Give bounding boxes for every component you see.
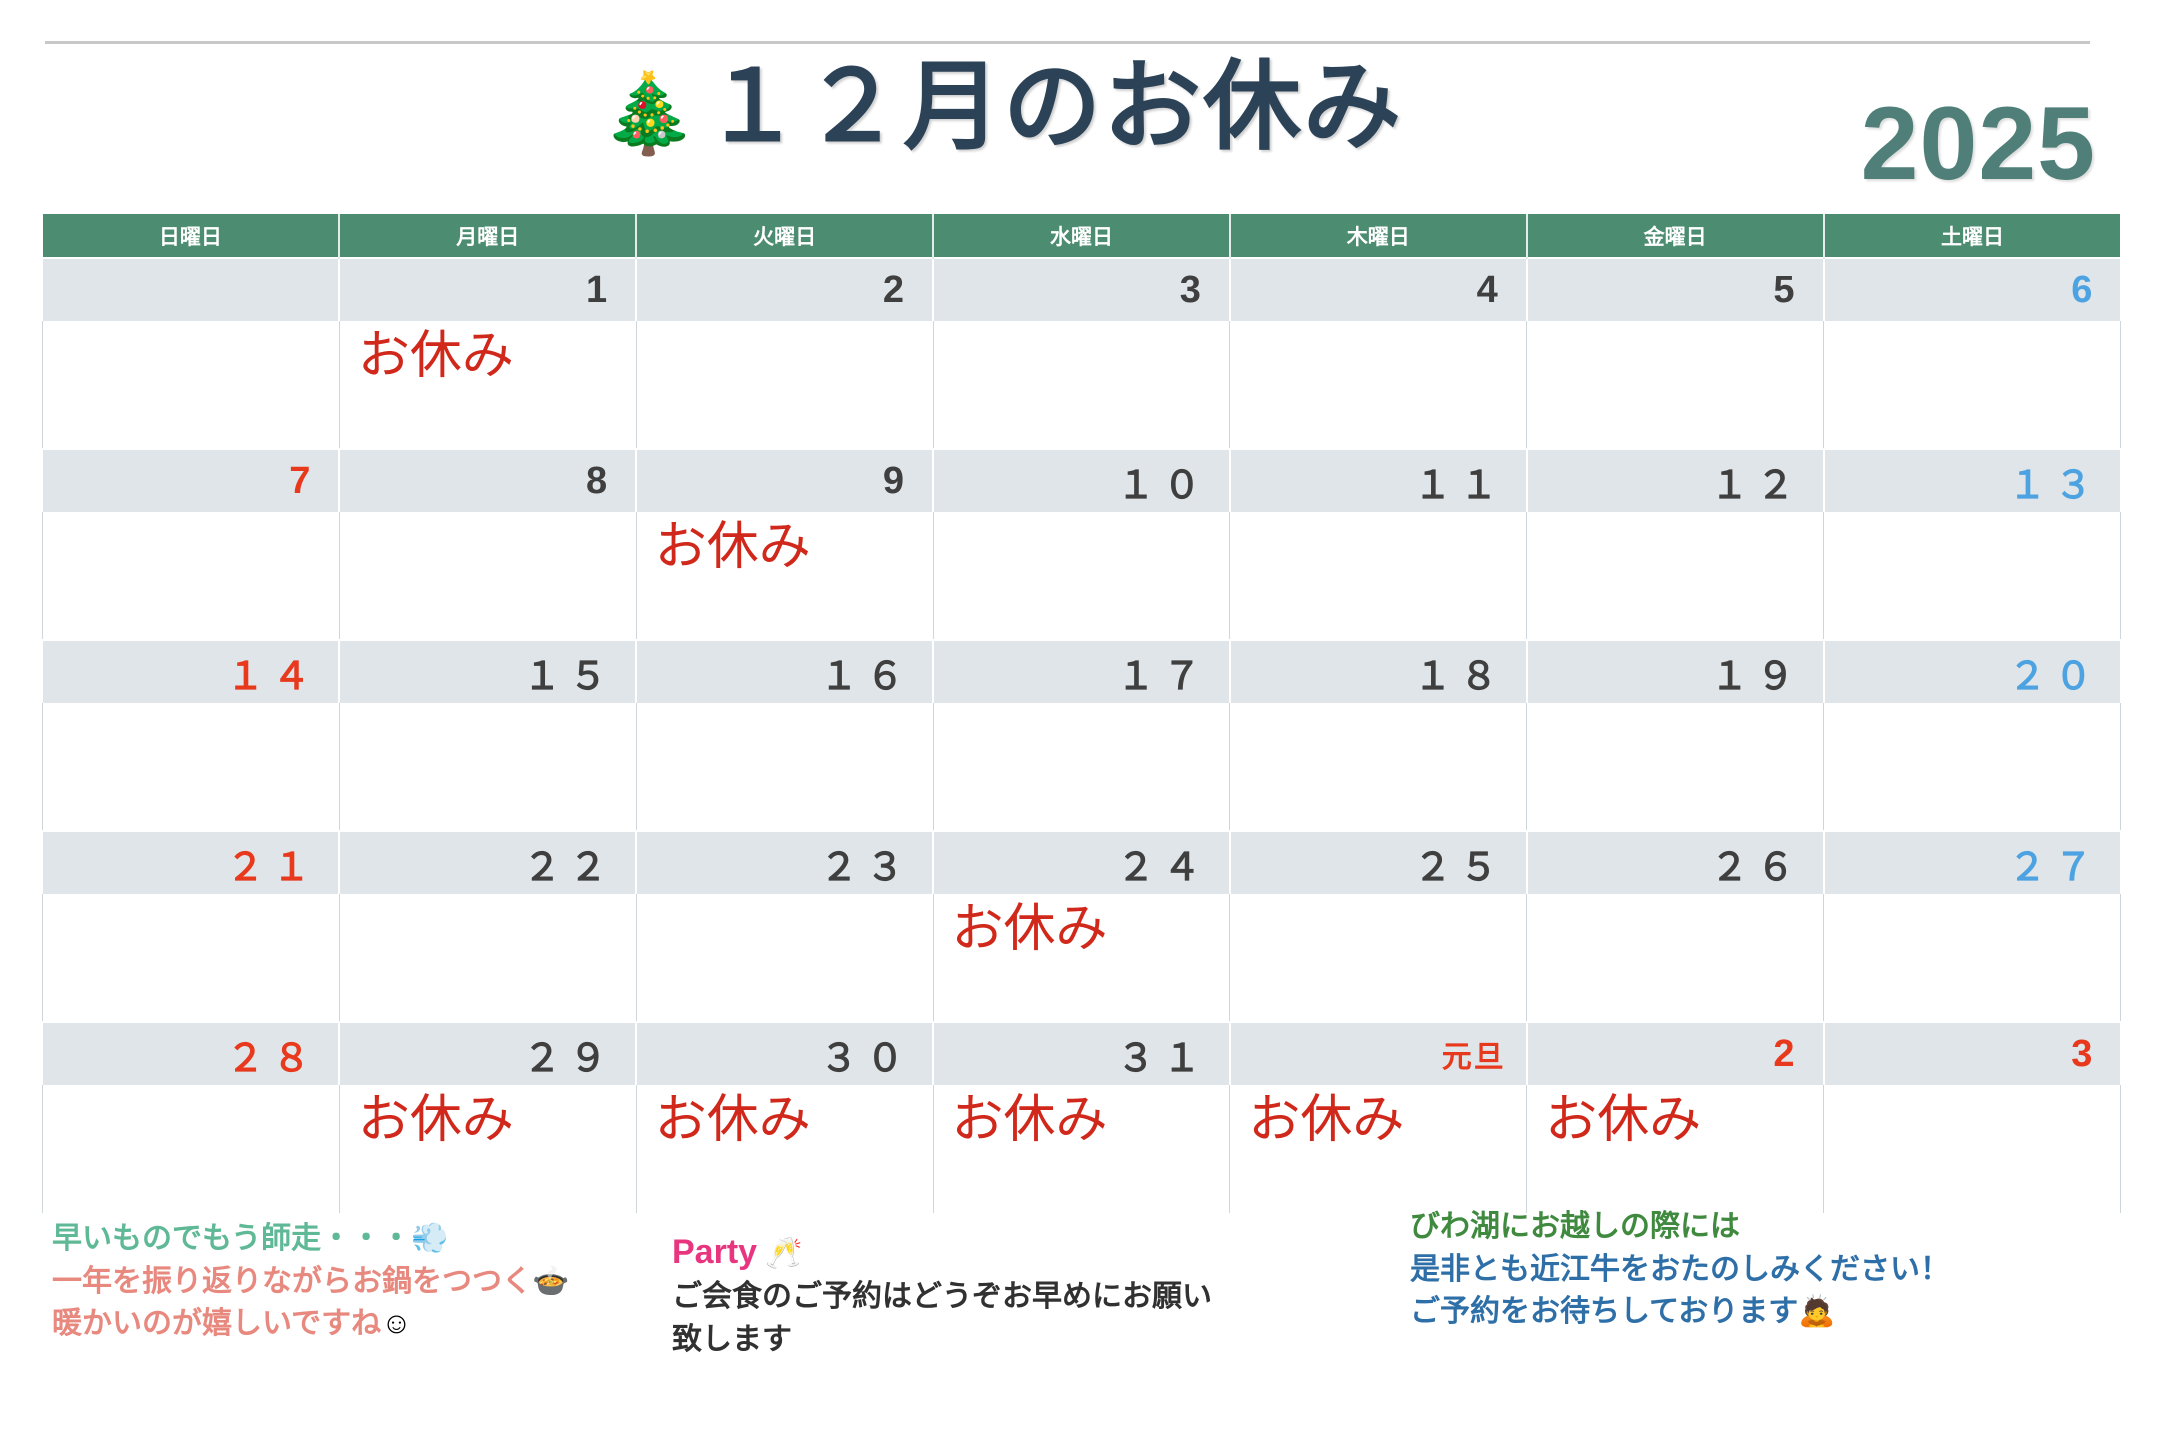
- calendar-event-cell[interactable]: [933, 512, 1230, 640]
- calendar-date-row: 789１０１１１２１３: [43, 449, 2121, 512]
- note-left-line1-text: 早いものでもう師走・・・: [52, 1222, 411, 1255]
- date-number: ２０: [2008, 656, 2100, 698]
- calendar-event-cell[interactable]: [1527, 512, 1824, 640]
- calendar-grid: 日曜日 月曜日 火曜日 水曜日 木曜日 金曜日 土曜日 123456お休み789…: [42, 214, 2121, 1213]
- calendar-date-cell[interactable]: 5: [1527, 258, 1824, 321]
- calendar-event-row: お休み: [43, 321, 2121, 449]
- note-middle-line3: 致します: [672, 1319, 1212, 1362]
- calendar-event-cell[interactable]: [1824, 512, 2121, 640]
- calendar-date-cell[interactable]: 3: [933, 258, 1230, 321]
- calendar-event-row: お休み: [43, 894, 2121, 1022]
- note-right-line3: ご予約をお待ちしております🙇: [1400, 1291, 1950, 1334]
- smiling-face-emoji: ☺: [381, 1307, 412, 1340]
- day-header-friday: 金曜日: [1527, 214, 1824, 258]
- calendar-date-cell[interactable]: ３１: [933, 1022, 1230, 1085]
- closed-day-label: お休み: [1248, 1091, 1404, 1149]
- closed-day-label: お休み: [952, 1091, 1108, 1149]
- date-number: ２９: [523, 1038, 615, 1080]
- date-number: １７: [1117, 656, 1209, 698]
- date-number: １６: [820, 656, 912, 698]
- calendar-date-cell[interactable]: １２: [1527, 449, 1824, 512]
- calendar-date-row: ２８２９３０３１元旦23: [43, 1022, 2121, 1085]
- date-number: 3: [1180, 269, 1209, 311]
- date-number: １４: [226, 656, 318, 698]
- calendar-date-cell[interactable]: 4: [1230, 258, 1527, 321]
- date-number: １２: [1711, 465, 1803, 507]
- closed-day-label: お休み: [655, 518, 811, 576]
- calendar-event-cell[interactable]: [1527, 703, 1824, 831]
- calendar-event-cell[interactable]: [43, 321, 340, 449]
- calendar-event-cell[interactable]: [933, 703, 1230, 831]
- closed-day-label: お休み: [358, 1091, 514, 1149]
- calendar-event-cell[interactable]: お休み: [1527, 1085, 1824, 1213]
- note-middle-line2: ご会食のご予約はどうぞお早めにお願い: [672, 1276, 1212, 1319]
- calendar-date-cell[interactable]: ２１: [43, 831, 340, 894]
- calendar-date-cell[interactable]: ２６: [1527, 831, 1824, 894]
- note-right-line1: びわ湖にお越しの際には: [1400, 1206, 1950, 1249]
- note-left-line2: 一年を振り返りながらお鍋をつつく🍲: [52, 1261, 569, 1304]
- calendar-date-cell[interactable]: １０: [933, 449, 1230, 512]
- calendar-event-cell[interactable]: [1230, 894, 1527, 1022]
- calendar-date-cell[interactable]: ２３: [636, 831, 933, 894]
- calendar-event-cell[interactable]: [339, 894, 636, 1022]
- calendar-event-cell[interactable]: [1824, 321, 2121, 449]
- calendar-date-cell[interactable]: 元旦: [1230, 1022, 1527, 1085]
- note-left-line1: 早いものでもう師走・・・💨: [52, 1218, 569, 1261]
- date-number: ３０: [820, 1038, 912, 1080]
- calendar-date-cell[interactable]: １３: [1824, 449, 2121, 512]
- calendar-event-cell[interactable]: お休み: [636, 512, 933, 640]
- day-header-saturday: 土曜日: [1824, 214, 2121, 258]
- calendar-event-cell[interactable]: [1824, 894, 2121, 1022]
- calendar-date-cell[interactable]: 2: [1527, 1022, 1824, 1085]
- date-number: １８: [1414, 656, 1506, 698]
- note-left: 早いものでもう師走・・・💨 一年を振り返りながらお鍋をつつく🍲 暖かいのが嬉しい…: [52, 1218, 569, 1346]
- date-number: 2: [1773, 1033, 1802, 1075]
- calendar-date-cell[interactable]: 7: [43, 449, 340, 512]
- calendar-event-cell[interactable]: [339, 703, 636, 831]
- date-number: １０: [1117, 465, 1209, 507]
- calendar-date-cell[interactable]: ２２: [339, 831, 636, 894]
- calendar-event-cell[interactable]: お休み: [1230, 1085, 1527, 1213]
- title-row: 🎄 １２月のお休み 2025: [0, 48, 2162, 158]
- calendar-date-cell[interactable]: ３０: [636, 1022, 933, 1085]
- calendar-date-cell[interactable]: ２０: [1824, 640, 2121, 703]
- note-right-line3-text: ご予約をお待ちしております: [1400, 1295, 1798, 1328]
- note-right-line2: 是非とも近江牛をおたのしみください！: [1400, 1249, 1950, 1292]
- calendar-event-cell[interactable]: [636, 703, 933, 831]
- calendar-date-cell[interactable]: [43, 258, 340, 321]
- dash-emoji: 💨: [411, 1222, 448, 1255]
- calendar-event-cell[interactable]: [43, 512, 340, 640]
- calendar-date-cell[interactable]: １５: [339, 640, 636, 703]
- title-group: 🎄 １２月のお休み: [600, 48, 1403, 158]
- closed-day-label: お休み: [1545, 1091, 1701, 1149]
- champagne-glasses-emoji: 🥂: [765, 1237, 802, 1270]
- day-header-monday: 月曜日: [339, 214, 636, 258]
- date-number: 元旦: [1442, 1041, 1506, 1074]
- calendar-date-cell[interactable]: 3: [1824, 1022, 2121, 1085]
- hotpot-emoji: 🍲: [532, 1265, 569, 1298]
- calendar-event-cell[interactable]: [1824, 703, 2121, 831]
- calendar-date-cell[interactable]: 9: [636, 449, 933, 512]
- calendar-date-cell[interactable]: １１: [1230, 449, 1527, 512]
- date-number: １１: [1414, 465, 1506, 507]
- bowing-person-emoji: 🙇: [1798, 1295, 1835, 1328]
- note-middle: Party 🥂 ご会食のご予約はどうぞお早めにお願い 致します: [672, 1228, 1212, 1361]
- footer-notes: 早いものでもう師走・・・💨 一年を振り返りながらお鍋をつつく🍲 暖かいのが嬉しい…: [0, 1206, 2162, 1406]
- calendar-event-cell[interactable]: お休み: [933, 894, 1230, 1022]
- note-left-line3-text: 暖かいのが嬉しいですね: [52, 1307, 381, 1340]
- calendar-date-cell[interactable]: １９: [1527, 640, 1824, 703]
- calendar-event-cell[interactable]: お休み: [933, 1085, 1230, 1213]
- page-title: １２月のお休み: [703, 55, 1403, 158]
- date-number: 2: [883, 269, 912, 311]
- closed-day-label: お休み: [358, 327, 514, 385]
- note-left-line2-text: 一年を振り返りながらお鍋をつつく: [52, 1265, 532, 1298]
- calendar-body: 123456お休み789１０１１１２１３お休み１４１５１６１７１８１９２０２１２…: [43, 258, 2121, 1213]
- calendar-event-cell[interactable]: [636, 321, 933, 449]
- calendar-date-cell[interactable]: １６: [636, 640, 933, 703]
- calendar-event-cell[interactable]: お休み: [339, 1085, 636, 1213]
- calendar-date-cell[interactable]: ２８: [43, 1022, 340, 1085]
- calendar-date-row: ２１２２２３２４２５２６２７: [43, 831, 2121, 894]
- calendar-event-cell[interactable]: [1527, 321, 1824, 449]
- date-number: ２８: [226, 1038, 318, 1080]
- calendar-event-cell[interactable]: [339, 512, 636, 640]
- date-number: 1: [586, 269, 615, 311]
- date-number: ２１: [226, 847, 318, 889]
- date-number: １３: [2008, 465, 2100, 507]
- calendar-date-cell[interactable]: 2: [636, 258, 933, 321]
- calendar-date-row: 123456: [43, 258, 2121, 321]
- calendar-date-cell[interactable]: 8: [339, 449, 636, 512]
- date-number: １５: [523, 656, 615, 698]
- header-divider: [45, 41, 2090, 44]
- date-number: 7: [289, 460, 318, 502]
- date-number: ２３: [820, 847, 912, 889]
- calendar-date-cell[interactable]: ２５: [1230, 831, 1527, 894]
- calendar-event-cell[interactable]: お休み: [636, 1085, 933, 1213]
- calendar-event-row: お休みお休みお休みお休みお休み: [43, 1085, 2121, 1213]
- calendar-event-row: [43, 703, 2121, 831]
- calendar-date-cell[interactable]: ２７: [1824, 831, 2121, 894]
- calendar-event-cell[interactable]: [1230, 321, 1527, 449]
- calendar-event-row: お休み: [43, 512, 2121, 640]
- calendar-event-cell[interactable]: [933, 321, 1230, 449]
- day-header-sunday: 日曜日: [43, 214, 340, 258]
- closed-day-label: お休み: [952, 900, 1108, 958]
- year-label: 2025: [1861, 92, 2096, 196]
- day-header-tuesday: 火曜日: [636, 214, 933, 258]
- day-header-wednesday: 水曜日: [933, 214, 1230, 258]
- date-number: 5: [1773, 269, 1802, 311]
- calendar-event-cell[interactable]: [43, 703, 340, 831]
- note-left-line3: 暖かいのが嬉しいですね☺: [52, 1303, 569, 1346]
- calendar-date-cell[interactable]: １４: [43, 640, 340, 703]
- calendar-page: 🎄 １２月のお休み 2025 日曜日 月曜日 火曜日 水曜日 木曜日 金曜日 土…: [0, 0, 2162, 1436]
- date-number: ２４: [1117, 847, 1209, 889]
- date-number: ２７: [2008, 847, 2100, 889]
- date-number: ２６: [1711, 847, 1803, 889]
- calendar-date-cell[interactable]: 6: [1824, 258, 2121, 321]
- calendar-event-cell[interactable]: [636, 894, 933, 1022]
- date-number: 6: [2071, 269, 2100, 311]
- calendar-event-cell[interactable]: [1230, 512, 1527, 640]
- calendar-date-cell[interactable]: 1: [339, 258, 636, 321]
- calendar-header-row: 日曜日 月曜日 火曜日 水曜日 木曜日 金曜日 土曜日: [43, 214, 2121, 258]
- date-number: 3: [2071, 1033, 2100, 1075]
- calendar-date-cell[interactable]: ２４: [933, 831, 1230, 894]
- date-number: １９: [1711, 656, 1803, 698]
- date-number: 4: [1477, 269, 1506, 311]
- date-number: 9: [883, 460, 912, 502]
- day-header-thursday: 木曜日: [1230, 214, 1527, 258]
- calendar-event-cell[interactable]: [1527, 894, 1824, 1022]
- calendar-date-cell[interactable]: １８: [1230, 640, 1527, 703]
- calendar-event-cell[interactable]: [1824, 1085, 2121, 1213]
- note-middle-heading: Party: [672, 1233, 757, 1271]
- closed-day-label: お休み: [655, 1091, 811, 1149]
- calendar-event-cell[interactable]: [43, 1085, 340, 1213]
- calendar-event-cell[interactable]: [43, 894, 340, 1022]
- calendar-date-cell[interactable]: ２９: [339, 1022, 636, 1085]
- calendar-date-cell[interactable]: １７: [933, 640, 1230, 703]
- calendar-event-cell[interactable]: [1230, 703, 1527, 831]
- date-number: ３１: [1117, 1038, 1209, 1080]
- note-right: びわ湖にお越しの際には 是非とも近江牛をおたのしみください！ ご予約をお待ちして…: [1400, 1206, 1950, 1334]
- note-middle-line1: Party 🥂: [672, 1228, 1212, 1276]
- date-number: ２５: [1414, 847, 1506, 889]
- calendar-event-cell[interactable]: お休み: [339, 321, 636, 449]
- christmas-tree-icon: 🎄: [600, 74, 697, 152]
- calendar-date-row: １４１５１６１７１８１９２０: [43, 640, 2121, 703]
- date-number: ２２: [523, 847, 615, 889]
- date-number: 8: [586, 460, 615, 502]
